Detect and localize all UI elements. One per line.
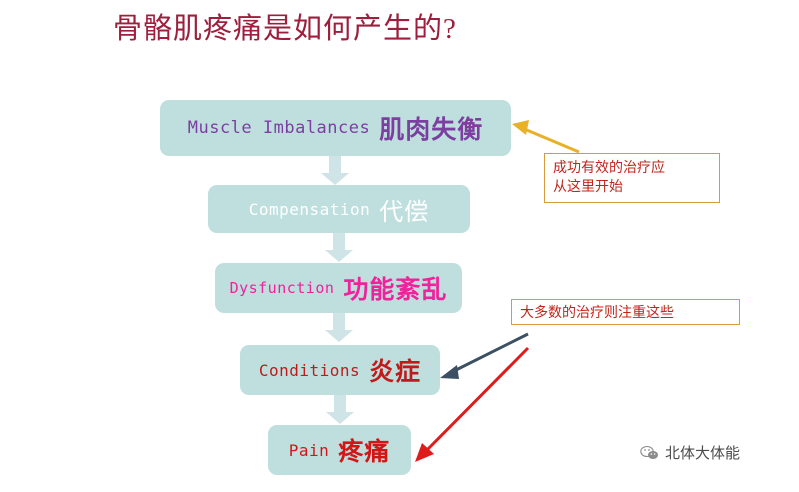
flow-step-compensation: Compensation 代偿 xyxy=(208,185,470,233)
flow-step-muscle-imbalances: Muscle Imbalances 肌肉失衡 xyxy=(160,100,511,156)
watermark-label: 北体大体能 xyxy=(665,442,740,463)
page-title: 骨骼肌疼痛是如何产生的? xyxy=(113,12,457,46)
flow-step-english-label: Compensation xyxy=(249,200,371,219)
flow-step-chinese-label: 功能紊乱 xyxy=(343,270,447,306)
slide-canvas: 骨骼肌疼痛是如何产生的? Muscle Imbalances 肌肉失衡 Comp… xyxy=(0,0,799,492)
flow-step-chinese-label: 肌肉失衡 xyxy=(379,110,483,146)
connector-arrow-down-icon xyxy=(318,156,352,186)
flow-step-conditions: Conditions 炎症 xyxy=(240,345,440,395)
connector-arrow-down-icon xyxy=(322,313,356,343)
annotation-arrows-layer xyxy=(0,0,799,492)
connector-arrow-down-icon xyxy=(323,395,357,425)
flow-step-dysfunction: Dysfunction 功能紊乱 xyxy=(215,263,462,313)
callout-note-start-here: 成功有效的治疗应 从这里开始 xyxy=(544,153,720,203)
watermark: 北体大体能 xyxy=(640,442,740,463)
flow-step-chinese-label: 代偿 xyxy=(379,192,429,227)
gold-callout-arrow-icon xyxy=(512,120,579,152)
callout-note-most-treatments: 大多数的治疗则注重这些 xyxy=(511,299,740,325)
flow-step-english-label: Conditions xyxy=(259,361,360,380)
connector-arrow-down-icon xyxy=(322,233,356,263)
flow-step-english-label: Muscle Imbalances xyxy=(188,118,371,138)
flow-step-chinese-label: 炎症 xyxy=(369,352,421,388)
flow-step-english-label: Dysfunction xyxy=(230,279,335,297)
navy-callout-arrow-icon xyxy=(440,334,528,379)
flow-step-chinese-label: 疼痛 xyxy=(338,432,390,468)
wechat-icon xyxy=(640,445,659,461)
flow-step-english-label: Pain xyxy=(289,441,330,460)
flow-step-pain: Pain 疼痛 xyxy=(268,425,411,475)
